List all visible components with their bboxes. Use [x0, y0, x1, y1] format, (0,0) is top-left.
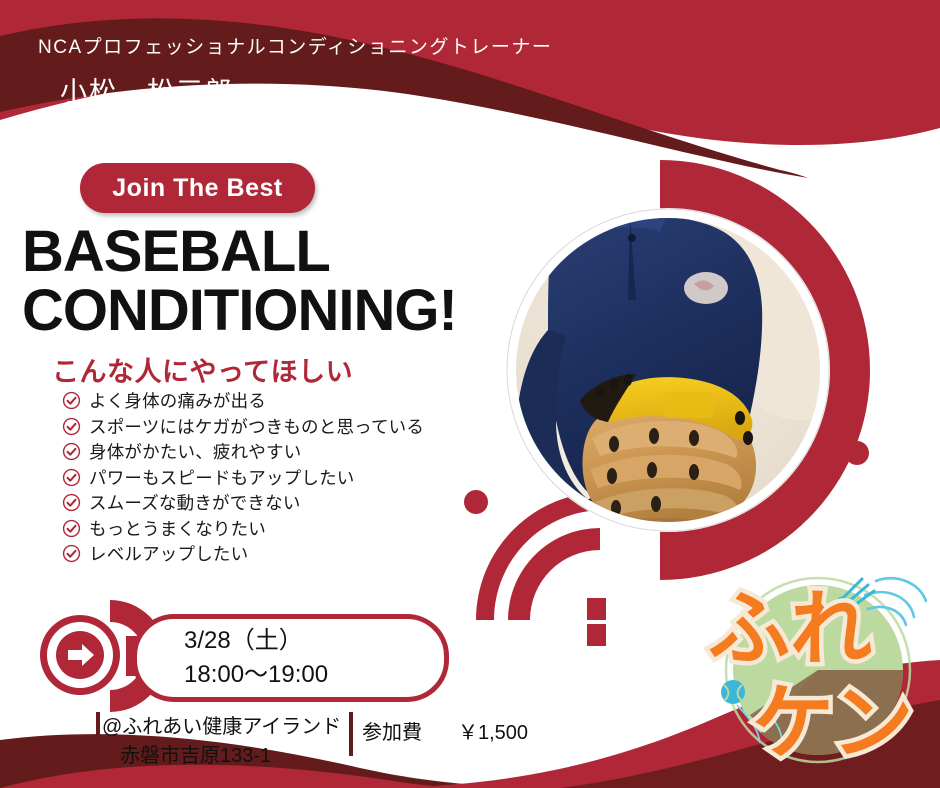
list-item: もっとうまくなりたい	[62, 516, 424, 542]
list-item-label: スムーズな動きができない	[89, 490, 301, 515]
list-item-label: もっとうまくなりたい	[89, 516, 266, 541]
venue-name: @ふれあい健康アイランド	[102, 713, 341, 742]
check-circle-icon	[62, 468, 81, 487]
headline-line-1: BASEBALL	[22, 222, 457, 281]
check-circle-icon	[62, 417, 81, 436]
list-item: よく身体の痛みが出る	[62, 388, 424, 414]
list-item-label: レベルアップしたい	[89, 541, 248, 566]
list-item-label: よく身体の痛みが出る	[89, 388, 266, 413]
schedule-date: 3/28（土）	[184, 620, 303, 655]
list-item-label: 身体がかたい、疲れやすい	[89, 439, 301, 464]
decor-square-upper	[587, 598, 606, 620]
fee-label: 参加費	[362, 716, 422, 745]
decor-dot-left	[464, 490, 488, 514]
join-the-best-badge[interactable]: Join The Best	[80, 163, 315, 213]
fee-value: ￥1,500	[458, 716, 528, 745]
list-item-label: スポーツにはケガがつきものと思っている	[89, 414, 424, 439]
headline-line-2: CONDITIONING!	[22, 281, 457, 340]
logo-ball-icon	[721, 680, 745, 704]
trainer-name: 小松 松三郎	[60, 70, 234, 109]
venue-block: @ふれあい健康アイランド 赤磐市吉原133-1	[102, 713, 341, 771]
check-circle-icon	[62, 442, 81, 461]
decor-square-lower	[587, 624, 606, 646]
join-badge-label: Join The Best	[112, 174, 282, 203]
fee-block: 参加費 ￥1,500	[362, 716, 528, 745]
check-circle-icon	[62, 519, 81, 538]
footer-divider-right	[349, 712, 353, 756]
sub-heading: こんな人にやってほしい	[52, 350, 353, 389]
list-item-label: パワーもスピードもアップしたい	[89, 465, 355, 490]
benefits-checklist: よく身体の痛みが出る スポーツにはケガがつきものと思っている 身体がかたい、疲れ…	[62, 388, 424, 567]
trainer-title: NCAプロフェッショナルコンディショニングトレーナー	[38, 32, 552, 59]
logo-text-line1: ふれ	[708, 584, 872, 675]
page-title: BASEBALL CONDITIONING!	[22, 222, 457, 340]
check-circle-icon	[62, 391, 81, 410]
list-item: 身体がかたい、疲れやすい	[62, 439, 424, 465]
list-item: パワーもスピードもアップしたい	[62, 465, 424, 491]
list-item: スムーズな動きができない	[62, 490, 424, 516]
venue-address: 赤磐市吉原133-1	[102, 742, 341, 771]
decor-dot-right	[845, 441, 869, 465]
logo-text-line2: ケン	[752, 678, 914, 769]
fureken-logo: ふれ ケン	[690, 565, 940, 788]
check-circle-icon	[62, 493, 81, 512]
flyer-canvas: NCAプロフェッショナルコンディショニングトレーナー 小松 松三郎 Join T…	[0, 0, 940, 788]
check-circle-icon	[62, 544, 81, 563]
list-item: レベルアップしたい	[62, 541, 424, 567]
schedule-time: 18:00〜19:00	[184, 654, 328, 689]
list-item: スポーツにはケガがつきものと思っている	[62, 414, 424, 440]
